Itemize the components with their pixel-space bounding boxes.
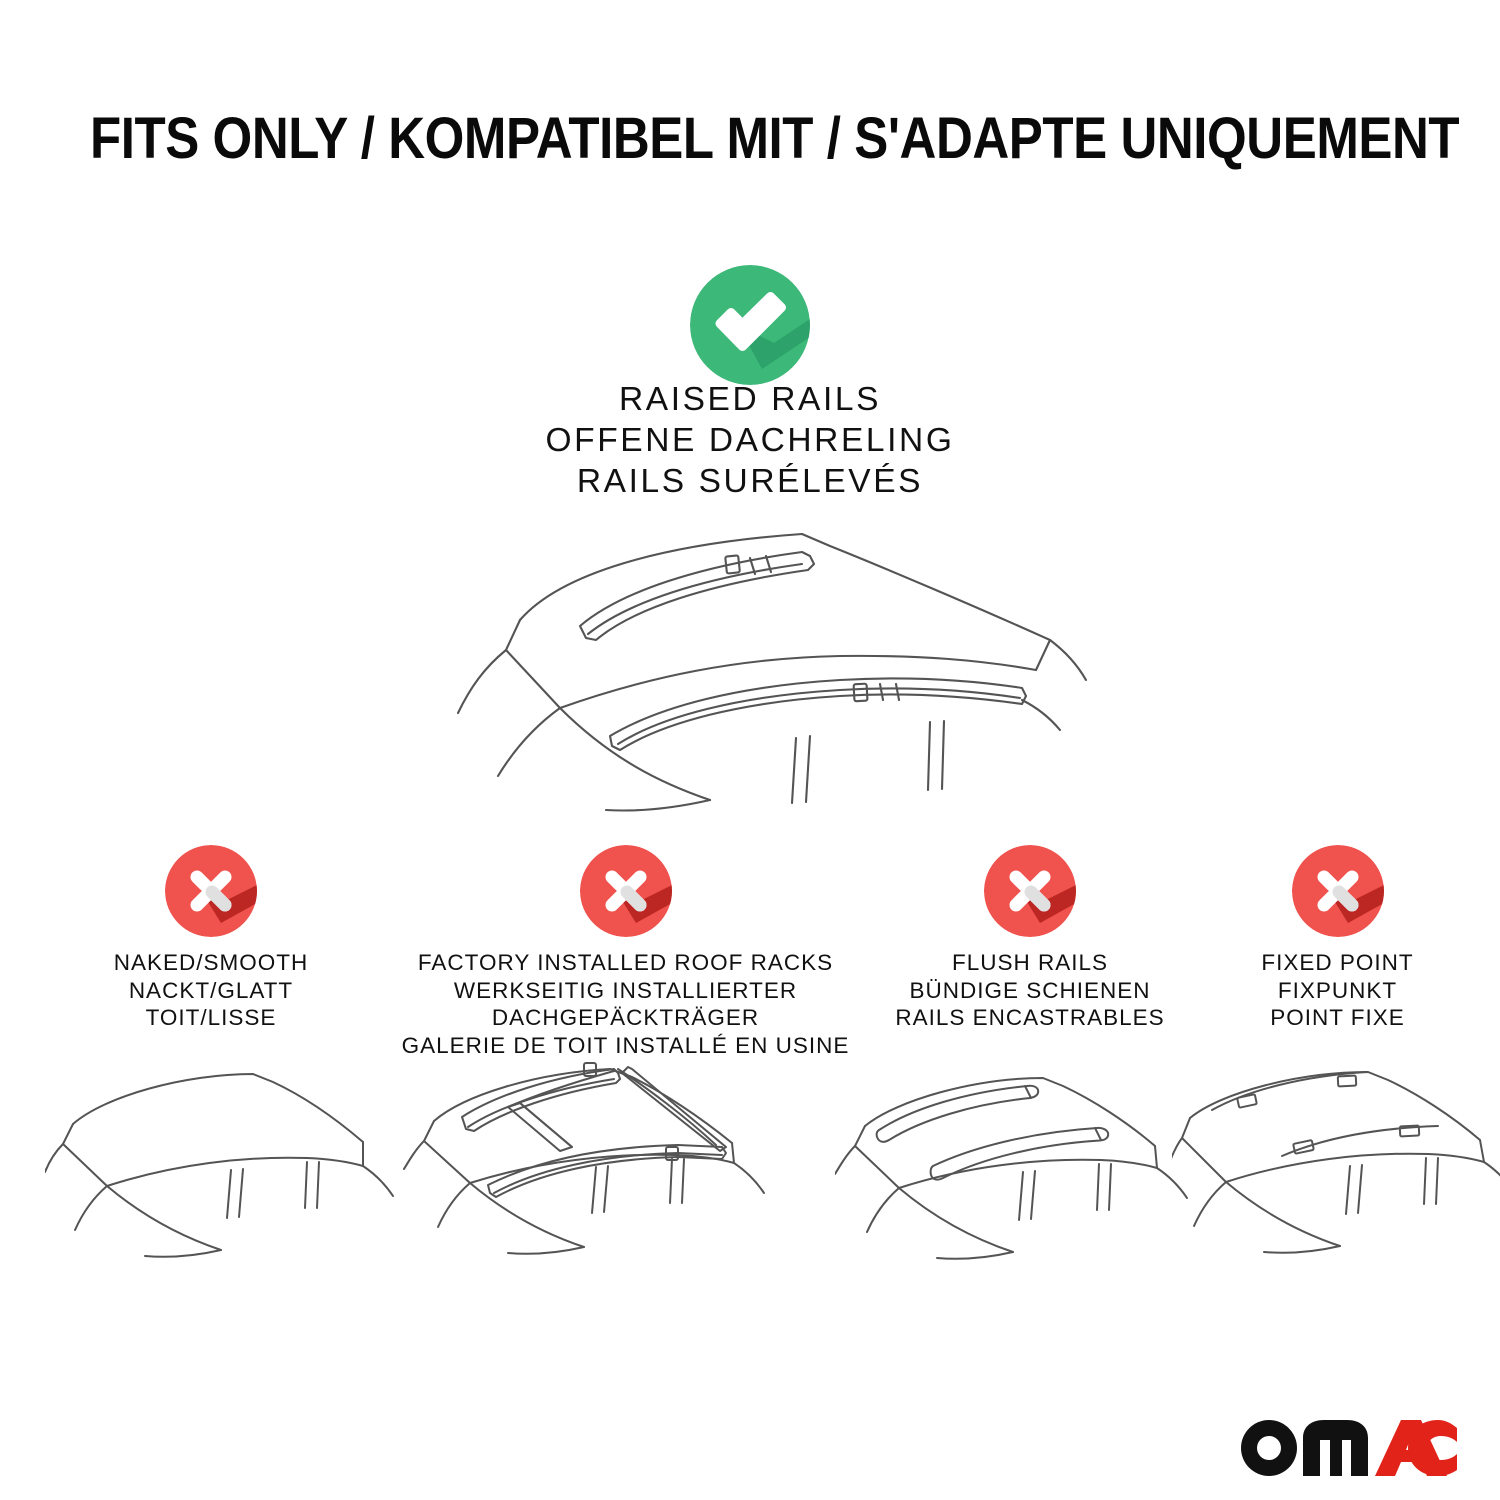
fitment-infographic: FITS ONLY / KOMPATIBEL MIT / S'ADAPTE UN… bbox=[0, 0, 1500, 1500]
car-roof-raised-rails-illustration bbox=[410, 508, 1110, 818]
label-line-de: NACKT/GLATT bbox=[55, 977, 367, 1005]
car-roof-factory-racks-illustration bbox=[400, 1055, 790, 1280]
label-line-en: FACTORY INSTALLED ROOF RACKS bbox=[398, 949, 853, 977]
omac-logo bbox=[1235, 1408, 1475, 1480]
label-line-de-2: DACHGEPÄCKTRÄGER bbox=[398, 1004, 853, 1032]
label-line-de-1: WERKSEITIG INSTALLIERTER bbox=[398, 977, 853, 1005]
incompatible-label-fixed-point: FIXED POINT FIXPUNKT POINT FIXE bbox=[1205, 949, 1470, 1032]
car-roof-naked-smooth-illustration bbox=[45, 1062, 395, 1277]
label-line-en: FIXED POINT bbox=[1205, 949, 1470, 977]
compatible-label-de: OFFENE DACHRELING bbox=[450, 420, 1050, 461]
cross-circle-icon bbox=[165, 845, 257, 937]
label-line-en: NAKED/SMOOTH bbox=[55, 949, 367, 977]
cross-circle-icon bbox=[1292, 845, 1384, 937]
incompatible-label-naked-smooth: NAKED/SMOOTH NACKT/GLATT TOIT/LISSE bbox=[55, 949, 367, 1032]
incompatible-label-factory-racks: FACTORY INSTALLED ROOF RACKS WERKSEITIG … bbox=[398, 949, 853, 1059]
label-line-fr: TOIT/LISSE bbox=[55, 1004, 367, 1032]
car-roof-fixed-point-illustration bbox=[1172, 1060, 1500, 1278]
cross-circle-icon bbox=[580, 845, 672, 937]
cross-circle-icon bbox=[984, 845, 1076, 937]
label-line-fr: RAILS ENCASTRABLES bbox=[862, 1004, 1198, 1032]
compatible-label: RAISED RAILS OFFENE DACHRELING RAILS SUR… bbox=[450, 379, 1050, 502]
label-line-en: FLUSH RAILS bbox=[862, 949, 1198, 977]
compatible-label-en: RAISED RAILS bbox=[450, 379, 1050, 420]
car-roof-flush-rails-illustration bbox=[835, 1062, 1215, 1280]
label-line-de: BÜNDIGE SCHIENEN bbox=[862, 977, 1198, 1005]
label-line-fr: POINT FIXE bbox=[1205, 1004, 1470, 1032]
compatible-label-fr: RAILS SURÉLEVÉS bbox=[450, 461, 1050, 502]
incompatible-label-flush-rails: FLUSH RAILS BÜNDIGE SCHIENEN RAILS ENCAS… bbox=[862, 949, 1198, 1032]
label-line-de: FIXPUNKT bbox=[1205, 977, 1470, 1005]
check-circle-icon bbox=[690, 265, 810, 385]
page-title: FITS ONLY / KOMPATIBEL MIT / S'ADAPTE UN… bbox=[90, 104, 1410, 174]
